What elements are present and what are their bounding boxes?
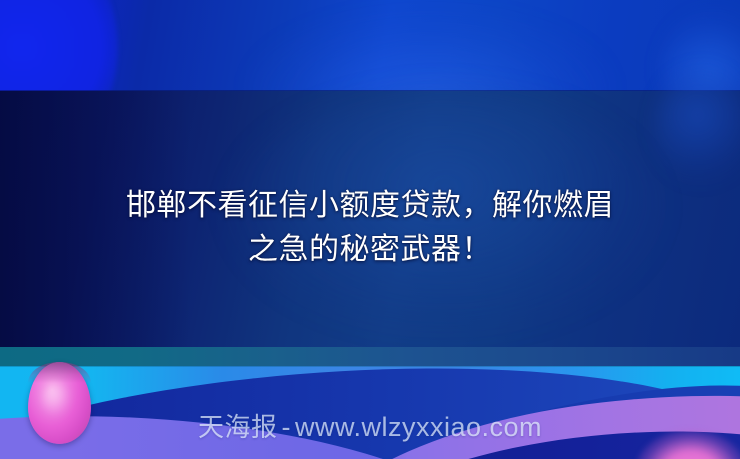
title-line-1: 邯郸不看征信小额度贷款，解你燃眉 bbox=[0, 184, 740, 228]
title-line-2: 之急的秘密武器！ bbox=[0, 228, 740, 272]
watermark-url: www.wlzyxxiao.com bbox=[295, 412, 542, 442]
top-blue-band bbox=[0, 0, 740, 91]
watermark-separator: - bbox=[277, 412, 295, 442]
teal-horizon-strip bbox=[0, 347, 740, 367]
watermark: 天海报-www.wlzyxxiao.com bbox=[0, 410, 740, 444]
mid-right-blue-blob-decoration bbox=[655, 69, 740, 184]
teal-strip-seam bbox=[0, 366, 740, 367]
page-title: 邯郸不看征信小额度贷款，解你燃眉 之急的秘密武器！ bbox=[0, 184, 740, 272]
watermark-brand: 天海报 bbox=[198, 412, 278, 442]
poster-canvas: 邯郸不看征信小额度贷款，解你燃眉 之急的秘密武器！ 天海报-www.wlzyxx… bbox=[0, 0, 740, 459]
